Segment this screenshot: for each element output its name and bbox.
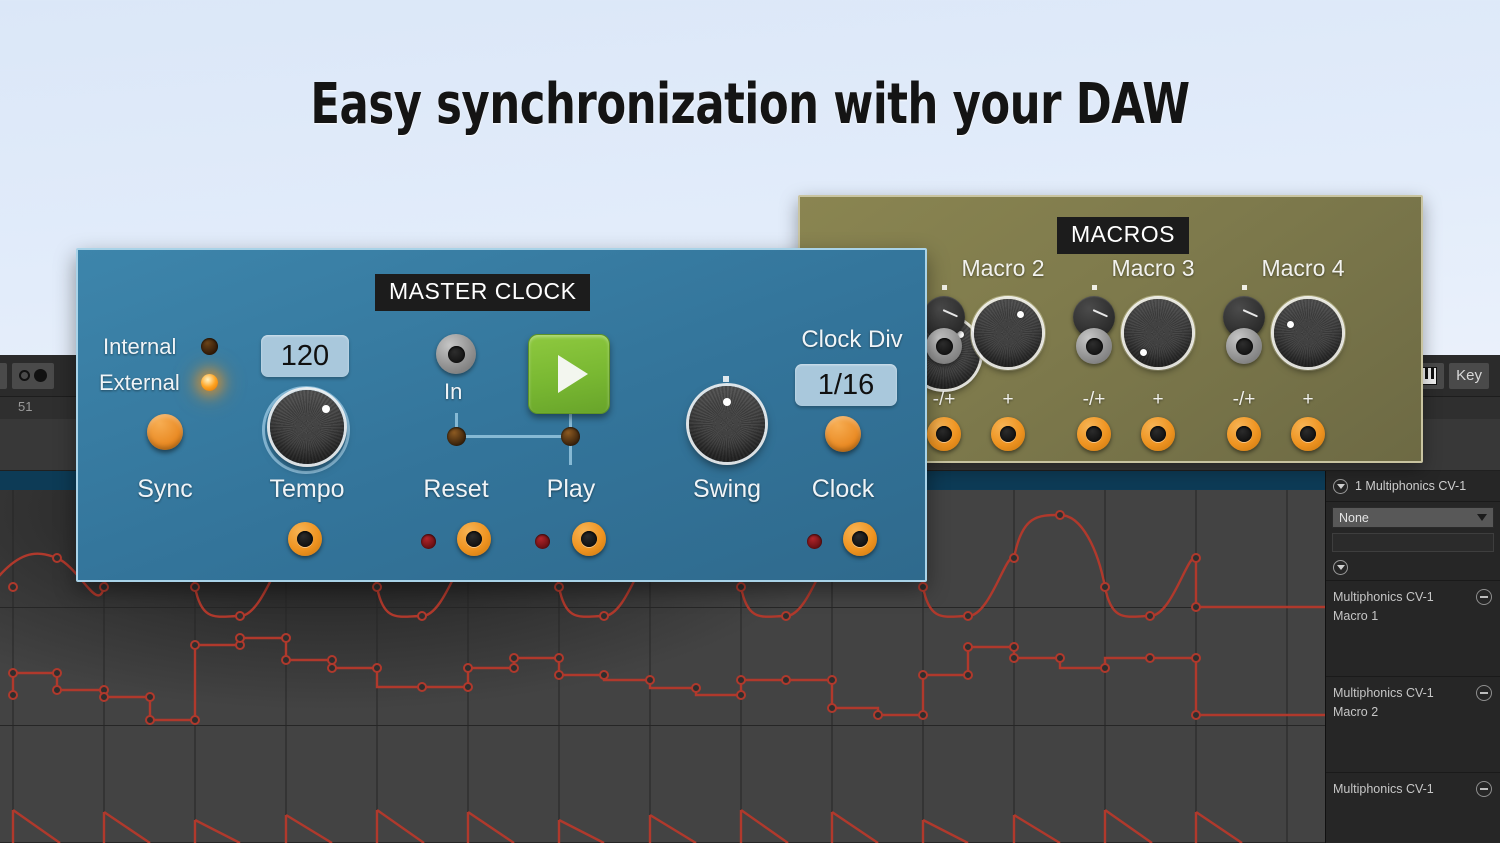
clock-div-value-box[interactable]: 1/16	[795, 364, 897, 406]
play-activity-led	[535, 534, 550, 549]
swing-label: Swing	[676, 475, 778, 504]
macro-3-cv-jack[interactable]	[1141, 417, 1175, 451]
macro-2-cv-jack[interactable]	[991, 417, 1025, 451]
page-title: Easy synchronization with your DAW	[105, 72, 1395, 137]
reset-activity-led	[421, 534, 436, 549]
external-label: External	[99, 370, 180, 396]
lane-device-name: Multiphonics CV-1	[1333, 780, 1493, 799]
clock-button[interactable]	[825, 416, 861, 452]
key-button[interactable]: Key	[1449, 363, 1489, 389]
macro-column-3: Macro 3 -/+ +	[1073, 255, 1233, 366]
clock-div-label: Clock Div	[772, 326, 932, 354]
macros-badge: MACROS	[1057, 217, 1189, 254]
list-item[interactable]: Multiphonics CV-1	[1326, 772, 1500, 843]
lane-device-name: Multiphonics CV-1	[1333, 588, 1493, 607]
macro-3-cv-jack-label: +	[1128, 389, 1188, 411]
macro-3-knob[interactable]	[1124, 299, 1192, 367]
macro-4-cv-socket[interactable]	[1226, 328, 1262, 364]
clock-jack[interactable]	[843, 522, 877, 556]
chevron-down-icon[interactable]	[1333, 479, 1348, 494]
master-clock-panel: MASTER CLOCK Internal External Sync 120 …	[76, 248, 927, 582]
sync-button[interactable]	[147, 414, 183, 450]
remove-lane-icon[interactable]	[1476, 589, 1492, 605]
macro-4-attenuator-jack[interactable]	[1227, 417, 1261, 451]
cable-node[interactable]	[447, 427, 466, 446]
play-button[interactable]	[528, 334, 610, 414]
radio-pair-icon	[19, 369, 47, 382]
time-signature-cell[interactable]: / 4	[0, 363, 7, 389]
parameter-field[interactable]	[1332, 533, 1494, 552]
play-jack[interactable]	[572, 522, 606, 556]
list-item[interactable]: Multiphonics CV-1 Macro 1	[1326, 580, 1500, 676]
macro-2-knob[interactable]	[974, 299, 1042, 367]
daw-track-panel: 1 Multiphonics CV-1 None Multiphonics CV…	[1325, 471, 1500, 843]
track-title: 1 Multiphonics CV-1	[1355, 479, 1466, 493]
macro-2-cv-jack-label: +	[978, 389, 1038, 411]
macro-4-cv-jack[interactable]	[1291, 417, 1325, 451]
macro-3-attenuator-jack-label: -/+	[1064, 389, 1124, 411]
internal-label: Internal	[103, 334, 176, 360]
list-item[interactable]: Multiphonics CV-1 Macro 2	[1326, 676, 1500, 772]
macro-label: Macro 2	[923, 255, 1083, 282]
swing-knob-tick-icon	[723, 376, 729, 382]
macro-label: Macro 3	[1073, 255, 1233, 282]
knob-tick-icon	[1242, 285, 1247, 290]
master-clock-badge: MASTER CLOCK	[375, 274, 590, 311]
tempo-value-box[interactable]: 120	[261, 335, 349, 377]
ruler-bar-number: 51	[18, 399, 32, 414]
lane-param-name: Macro 2	[1333, 703, 1493, 722]
expand-row[interactable]	[1326, 552, 1500, 580]
clock-label: Clock	[793, 475, 893, 504]
macro-2-attenuator-jack[interactable]	[927, 417, 961, 451]
remove-lane-icon[interactable]	[1476, 781, 1492, 797]
remove-lane-icon[interactable]	[1476, 685, 1492, 701]
swing-knob[interactable]	[689, 386, 765, 462]
macro-3-attenuator-jack[interactable]	[1077, 417, 1111, 451]
chevron-down-icon[interactable]	[1333, 560, 1348, 575]
device-select[interactable]: None	[1332, 507, 1494, 528]
reset-in-socket[interactable]	[436, 334, 476, 374]
reset-label: Reset	[406, 475, 506, 504]
knob-tick-icon	[1092, 285, 1097, 290]
tempo-label: Tempo	[254, 475, 360, 504]
chevron-down-icon	[1477, 514, 1487, 521]
internal-led	[201, 338, 218, 355]
reset-jack[interactable]	[457, 522, 491, 556]
cable-segment	[455, 435, 572, 438]
macro-4-attenuator-jack-label: -/+	[1214, 389, 1274, 411]
track-header[interactable]: 1 Multiphonics CV-1	[1326, 471, 1500, 502]
cable-node[interactable]	[561, 427, 580, 446]
macro-4-cv-jack-label: +	[1278, 389, 1338, 411]
macro-label: Macro 4	[1223, 255, 1383, 282]
clock-activity-led	[807, 534, 822, 549]
lane-param-name: Macro 1	[1333, 607, 1493, 626]
lane-device-name: Multiphonics CV-1	[1333, 684, 1493, 703]
external-led	[201, 374, 218, 391]
macro-4-knob[interactable]	[1274, 299, 1342, 367]
tempo-jack[interactable]	[288, 522, 322, 556]
play-label: Play	[521, 475, 621, 504]
circle-outline-icon	[19, 370, 30, 381]
macro-3-cv-socket[interactable]	[1076, 328, 1112, 364]
knob-tick-icon	[942, 285, 947, 290]
in-label: In	[444, 379, 462, 405]
sync-label: Sync	[125, 475, 205, 504]
circle-filled-icon	[34, 369, 47, 382]
macro-column-2: Macro 2 -/+ +	[923, 255, 1083, 366]
record-mode-toggle[interactable]	[12, 363, 54, 389]
macro-column-4: Macro 4 -/+ +	[1223, 255, 1383, 366]
device-select-value: None	[1339, 511, 1369, 525]
tempo-knob[interactable]	[270, 390, 344, 464]
daw-toolbar-left-group: / 4	[0, 363, 59, 389]
